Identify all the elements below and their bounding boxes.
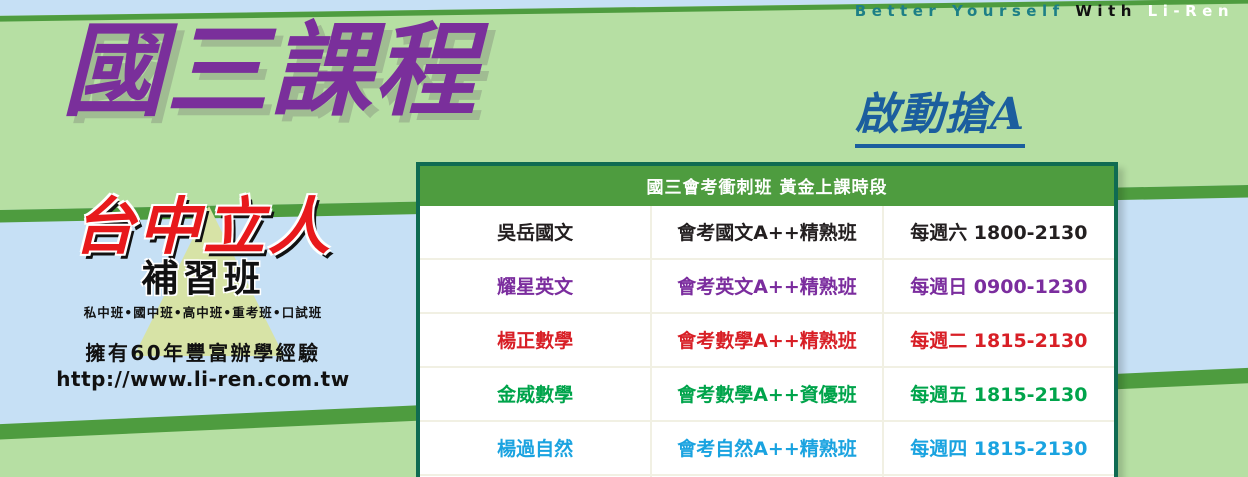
schedule-teacher-cell: 耀星英文 <box>420 259 651 313</box>
schedule-header-row: 國三會考衝刺班 黃金上課時段 <box>420 166 1114 206</box>
logo: 台中立人 補習班 私中班•國中班•高中班•重考班•口試班 擁有60年豐富辦學經驗… <box>38 196 368 391</box>
schedule-teacher-cell: 吳岳國文 <box>420 206 651 259</box>
page-subtitle: 啟動搶A <box>855 78 1025 148</box>
table-row: 楊正數學會考數學A++精熟班每週二 1815-2130 <box>420 313 1114 367</box>
schedule-time-cell: 每週四 1815-2130 <box>883 421 1114 475</box>
schedule-time-cell: 每週二 1815-2130 <box>883 313 1114 367</box>
schedule-course-cell: 會考自然A++精熟班 <box>651 421 882 475</box>
logo-website-url[interactable]: http://www.li-ren.com.tw <box>38 367 368 391</box>
schedule-time-cell: 每週五 1815-2130 <box>883 367 1114 421</box>
schedule-course-cell: 會考英文A++精熟班 <box>651 259 882 313</box>
logo-brand-name: 台中立人 <box>38 196 368 258</box>
table-row: 金威數學會考數學A++資優班每週五 1815-2130 <box>420 367 1114 421</box>
promo-banner: Better Yourself With Li-Ren 國三課程 啟動搶A 台中… <box>0 0 1248 477</box>
tagline-part-1: Better Yourself <box>855 2 1065 20</box>
schedule-teacher-cell: 楊過自然 <box>420 421 651 475</box>
logo-experience-text: 擁有60年豐富辦學經驗 <box>38 337 368 366</box>
tagline: Better Yourself With Li-Ren <box>855 2 1234 20</box>
table-row: 吳岳國文會考國文A++精熟班每週六 1800-2130 <box>420 206 1114 259</box>
schedule-teacher-cell: 金威數學 <box>420 367 651 421</box>
tagline-part-3: Li-Ren <box>1148 2 1234 20</box>
schedule-header-title: 國三會考衝刺班 黃金上課時段 <box>420 166 1114 206</box>
logo-class-list: 私中班•國中班•高中班•重考班•口試班 <box>38 302 368 321</box>
schedule-time-cell: 每週六 1800-2130 <box>883 206 1114 259</box>
schedule-course-cell: 會考數學A++資優班 <box>651 367 882 421</box>
schedule-table-head: 國三會考衝刺班 黃金上課時段 <box>420 166 1114 206</box>
schedule-table-container: 國三會考衝刺班 黃金上課時段 吳岳國文會考國文A++精熟班每週六 1800-21… <box>416 162 1118 477</box>
schedule-table-body: 吳岳國文會考國文A++精熟班每週六 1800-2130耀星英文會考英文A++精熟… <box>420 206 1114 477</box>
schedule-teacher-cell: 楊正數學 <box>420 313 651 367</box>
logo-brand-subname: 補習班 <box>38 259 368 298</box>
schedule-time-cell: 每週日 0900-1230 <box>883 259 1114 313</box>
table-row: 耀星英文會考英文A++精熟班每週日 0900-1230 <box>420 259 1114 313</box>
page-title: 國三課程 <box>62 16 478 126</box>
schedule-course-cell: 會考國文A++精熟班 <box>651 206 882 259</box>
tagline-part-2: With <box>1075 2 1137 20</box>
schedule-course-cell: 會考數學A++精熟班 <box>651 313 882 367</box>
table-row: 楊過自然會考自然A++精熟班每週四 1815-2130 <box>420 421 1114 475</box>
schedule-table: 國三會考衝刺班 黃金上課時段 吳岳國文會考國文A++精熟班每週六 1800-21… <box>420 166 1114 477</box>
